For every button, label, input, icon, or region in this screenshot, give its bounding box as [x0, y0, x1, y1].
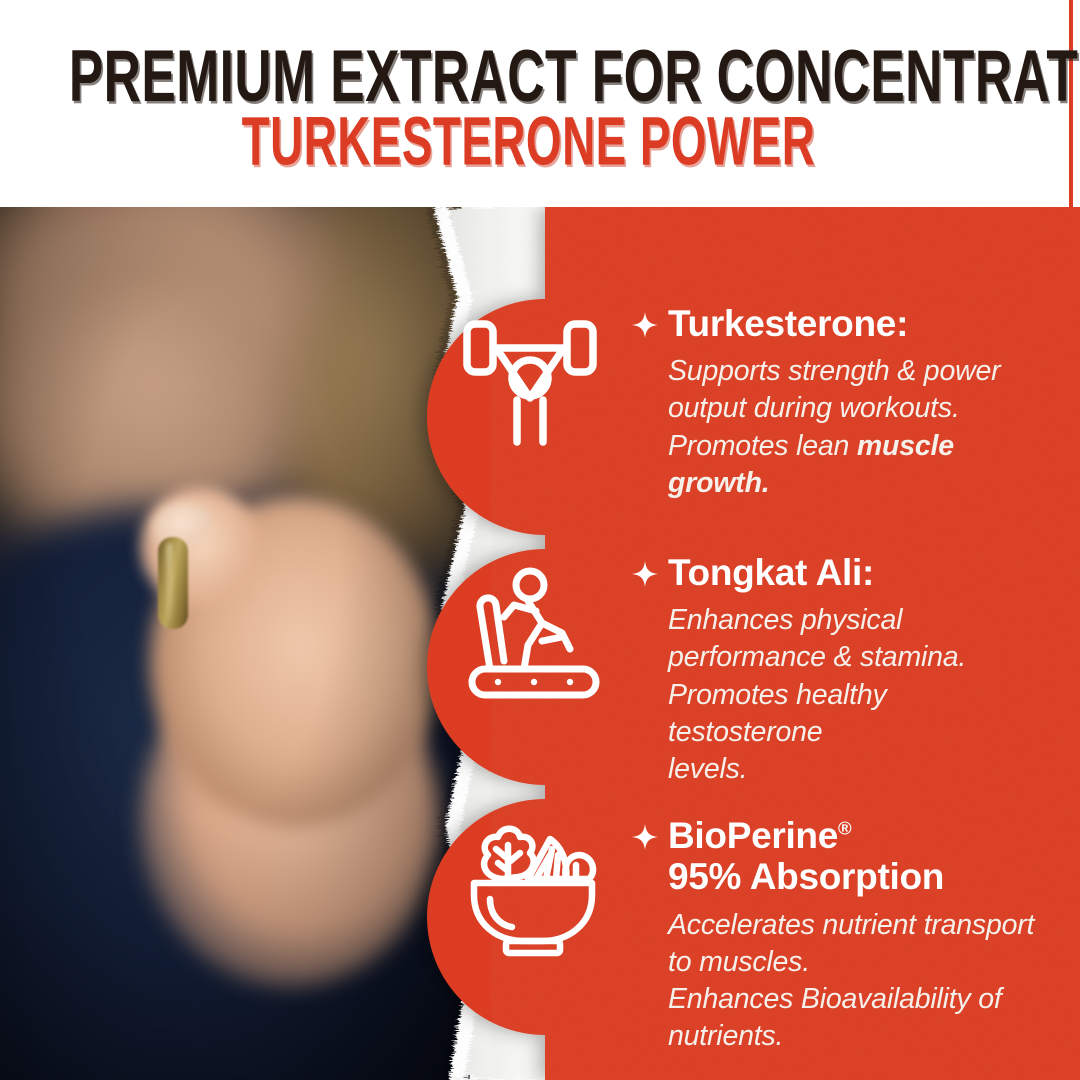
headline-line-2: TURKESTERONE POWER: [90, 107, 967, 175]
infographic-root: Turkesterone: Supports strength & power …: [0, 0, 1080, 1080]
feature-body: Enhances physical performance & stamina.…: [668, 602, 1047, 787]
feature-title: Turkesterone:: [668, 303, 908, 344]
feature-heading-row: BioPerine®95% Absorption: [632, 815, 1052, 898]
feature-body-line: Promotes healthy testosterone: [668, 679, 887, 748]
salad-bowl-icon: [458, 815, 608, 965]
feature-body-line: performance & stamina.: [668, 641, 966, 673]
feature-title: BioPerine®95% Absorption: [668, 815, 944, 898]
treadmill-runner-icon: [458, 557, 608, 707]
feature-heading-row: Turkesterone:: [632, 303, 1052, 344]
feature-heading-row: Tongkat Ali:: [632, 552, 1047, 593]
feature-body-line: output during workouts.: [668, 392, 960, 424]
weightlifter-icon: [455, 302, 605, 452]
feature-body: Accelerates nutrient transport to muscle…: [668, 907, 1052, 1055]
four-point-star-icon: [632, 312, 658, 338]
feature-text-bioperine: BioPerine®95% Absorption Accelerates nut…: [632, 815, 1052, 1055]
feature-title-main: BioPerine: [668, 815, 838, 856]
four-point-star-icon: [632, 824, 658, 850]
feature-body-line: Accelerates nutrient transport: [668, 909, 1034, 941]
feature-title-line2: 95% Absorption: [668, 856, 944, 897]
feature-text-turkesterone: Turkesterone: Supports strength & power …: [632, 303, 1052, 502]
feature-body-line: nutrients.: [668, 1020, 783, 1052]
feature-body-line: Promotes lean: [668, 430, 857, 462]
feature-list: Turkesterone: Supports strength & power …: [0, 207, 1080, 1080]
feature-title: Tongkat Ali:: [668, 552, 874, 593]
feature-body-line: Enhances physical: [668, 604, 902, 636]
feature-text-tongkat-ali: Tongkat Ali: Enhances physical performan…: [632, 552, 1047, 788]
feature-body-line: to muscles.: [668, 946, 810, 978]
feature-body-line: levels.: [668, 753, 747, 785]
feature-body-line: Enhances Bioavailability of: [668, 983, 1002, 1015]
feature-body-line: Supports strength & power: [668, 355, 1000, 387]
header-banner: PREMIUM EXTRACT FOR CONCENTRATED TURKEST…: [0, 0, 1073, 207]
four-point-star-icon: [632, 561, 658, 587]
registered-mark: ®: [838, 818, 851, 839]
feature-body: Supports strength & power output during …: [668, 353, 1052, 501]
